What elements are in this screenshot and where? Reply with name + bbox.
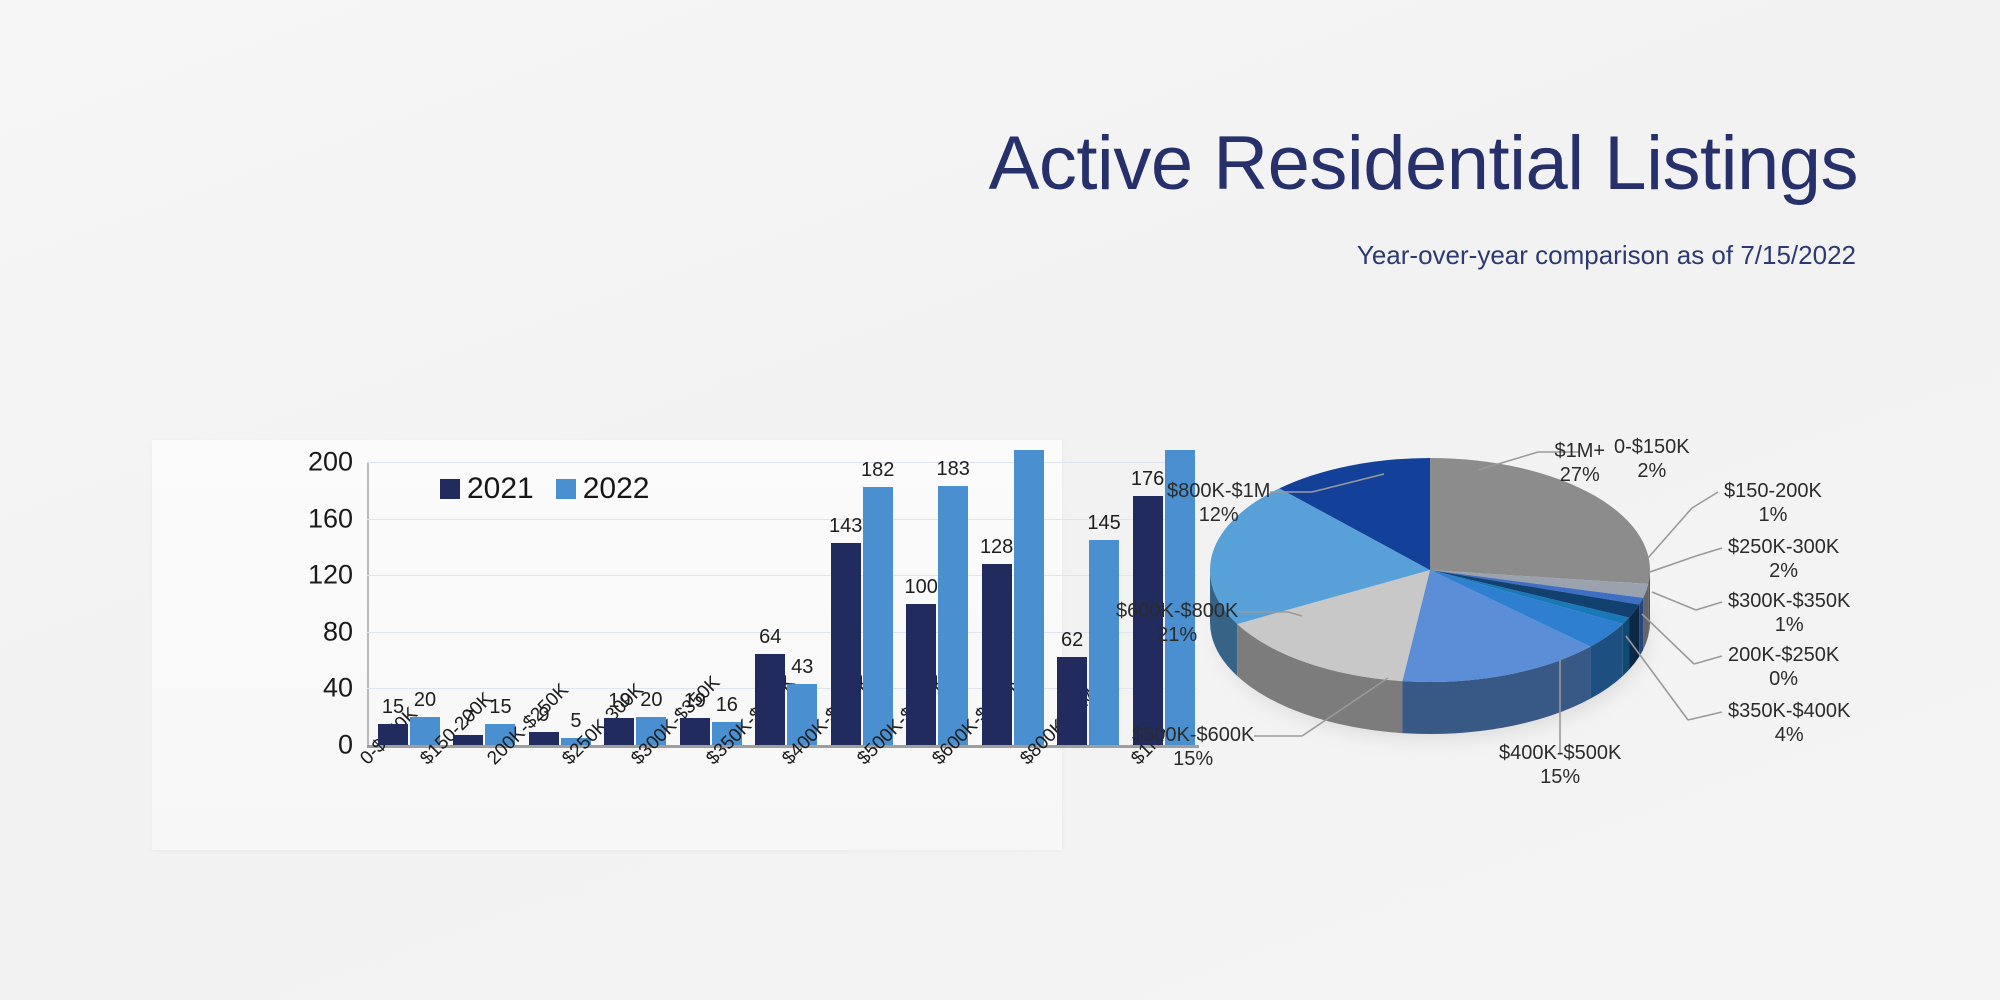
pie-label-$350K-$400K: $350K-$400K4% — [1728, 700, 1850, 747]
pie-label-percent: 1% — [1728, 614, 1850, 638]
bar-value-label: 7 — [463, 708, 474, 728]
pie-label-0-$150K: 0-$150K2% — [1614, 436, 1690, 483]
legend-swatch-2022 — [556, 479, 576, 499]
pie-chart-panel: $800K-$1M12%$1M+27%0-$150K2%$150-200K1%$… — [1100, 440, 1940, 860]
pie-leader-line — [1648, 508, 1692, 558]
header: Active Residential Listings Year-over-ye… — [0, 0, 2000, 300]
pie-label-$800K-$1M: $800K-$1M12% — [1167, 480, 1270, 527]
pie-label-$400K-$500K: $400K-$500K15% — [1499, 742, 1621, 789]
y-axis-tick-label: 160 — [308, 505, 353, 532]
bar-chart-legend: 2021 2022 — [440, 474, 650, 504]
pie-label-$500K-$600K: $500K-$600K15% — [1132, 724, 1254, 771]
pie-slice-side — [1639, 598, 1643, 657]
bar-2022[interactable] — [863, 487, 893, 745]
bar-value-label: 20 — [640, 690, 662, 710]
legend-swatch-2021 — [440, 479, 460, 499]
pie-label-percent: 12% — [1167, 504, 1270, 528]
pie-label-percent: 1% — [1724, 504, 1822, 528]
pie-label-text: $150-200K — [1724, 480, 1822, 502]
pie-leader-stub — [1694, 656, 1722, 664]
bar-2021[interactable] — [1057, 657, 1087, 745]
bar-value-label: 143 — [829, 516, 862, 536]
y-axis-tick-label: 40 — [323, 675, 353, 702]
pie-label-text: 200K-$250K — [1728, 644, 1839, 666]
pie-label-text: 0-$150K — [1614, 436, 1690, 458]
legend-item-2021[interactable]: 2021 — [440, 474, 534, 504]
pie-slice-side — [1623, 618, 1629, 676]
bar-value-label: 16 — [716, 695, 738, 715]
bar-value-label: 9 — [538, 705, 549, 725]
pie-label-text: $250K-300K — [1728, 536, 1839, 558]
bar-2021[interactable] — [604, 718, 634, 745]
pie-leader-line — [1652, 592, 1696, 610]
pie-label-$300K-$350K: $300K-$350K1% — [1728, 590, 1850, 637]
pie-label-$1M+: $1M+27% — [1555, 440, 1606, 487]
pie-leader-line — [1642, 614, 1694, 664]
bar-2021[interactable] — [831, 543, 861, 745]
bar-value-label: 19 — [608, 691, 630, 711]
y-axis-tick-label: 80 — [323, 618, 353, 645]
bar-group: 100183 — [904, 462, 969, 745]
bar-group: 1916 — [678, 462, 743, 745]
y-axis-tick-label: 200 — [308, 449, 353, 476]
pie-label-percent: 2% — [1728, 560, 1839, 584]
pie-label-percent: 21% — [1116, 624, 1238, 648]
pie-leader-stub — [1696, 602, 1722, 610]
page-title: Active Residential Listings — [989, 126, 1858, 202]
bar-2021[interactable] — [529, 732, 559, 745]
bar-value-label: 128 — [980, 537, 1013, 557]
pie-label-text: $800K-$1M — [1167, 480, 1270, 502]
pie-label-$250K-300K: $250K-300K2% — [1728, 536, 1839, 583]
bar-value-label: 183 — [936, 459, 969, 479]
pie-label-$150-200K: $150-200K1% — [1724, 480, 1822, 527]
pie-label-percent: 15% — [1132, 748, 1254, 772]
pie-label-text: $600K-$800K — [1116, 600, 1238, 622]
legend-label-2022: 2022 — [583, 474, 650, 504]
y-axis-tick-label: 120 — [308, 562, 353, 589]
bar-value-label: 182 — [861, 460, 894, 480]
bar-2021[interactable] — [680, 718, 710, 745]
bar-value-label: 20 — [414, 690, 436, 710]
bar-group: 128 — [980, 462, 1045, 745]
y-axis-tick-label: 0 — [338, 732, 353, 759]
pie-leader-stub — [1696, 548, 1722, 556]
y-axis-line — [367, 462, 369, 745]
bar-2021[interactable] — [378, 724, 408, 745]
bar-value-label: 64 — [759, 627, 781, 647]
legend-label-2021: 2021 — [467, 474, 534, 504]
bar-group: 1520 — [376, 462, 441, 745]
legend-item-2022[interactable]: 2022 — [556, 474, 650, 504]
bar-2021[interactable] — [982, 564, 1012, 745]
pie-label-percent: 0% — [1728, 668, 1839, 692]
pie-leader-line — [1650, 556, 1696, 572]
pie-label-percent: 15% — [1499, 766, 1621, 790]
bar-2021[interactable] — [906, 604, 936, 746]
pie-label-$600K-$800K: $600K-$800K21% — [1116, 600, 1238, 647]
pie-label-text: $500K-$600K — [1132, 724, 1254, 746]
pie-label-text: $1M+ — [1555, 440, 1606, 462]
bar-value-label: 5 — [570, 711, 581, 731]
pie-label-percent: 2% — [1614, 460, 1690, 484]
pie-label-percent: 4% — [1728, 724, 1850, 748]
pie-label-text: $400K-$500K — [1499, 742, 1621, 764]
bar-2022[interactable] — [1014, 450, 1044, 745]
page-subtitle: Year-over-year comparison as of 7/15/202… — [1357, 240, 1856, 271]
bar-value-label: 15 — [382, 697, 404, 717]
bar-group: 6443 — [753, 462, 818, 745]
bar-chart-panel: 2021 2022 040801201602000-$150K1520$150-… — [152, 440, 1062, 850]
pie-label-200K-$250K: 200K-$250K0% — [1728, 644, 1839, 691]
bar-group: 143182 — [829, 462, 894, 745]
pie-label-percent: 27% — [1555, 464, 1606, 488]
bar-value-label: 15 — [489, 697, 511, 717]
bar-value-label: 62 — [1061, 630, 1083, 650]
bar-value-label: 43 — [791, 657, 813, 677]
pie-label-text: $350K-$400K — [1728, 700, 1850, 722]
bar-2021[interactable] — [755, 654, 785, 745]
pie-leader-stub — [1688, 712, 1722, 720]
pie-leader-stub — [1692, 492, 1718, 508]
pie-label-text: $300K-$350K — [1728, 590, 1850, 612]
bar-2021[interactable] — [453, 735, 483, 745]
bar-value-label: 100 — [904, 577, 937, 597]
bar-value-label: 19 — [684, 691, 706, 711]
bar-2022[interactable] — [938, 486, 968, 745]
